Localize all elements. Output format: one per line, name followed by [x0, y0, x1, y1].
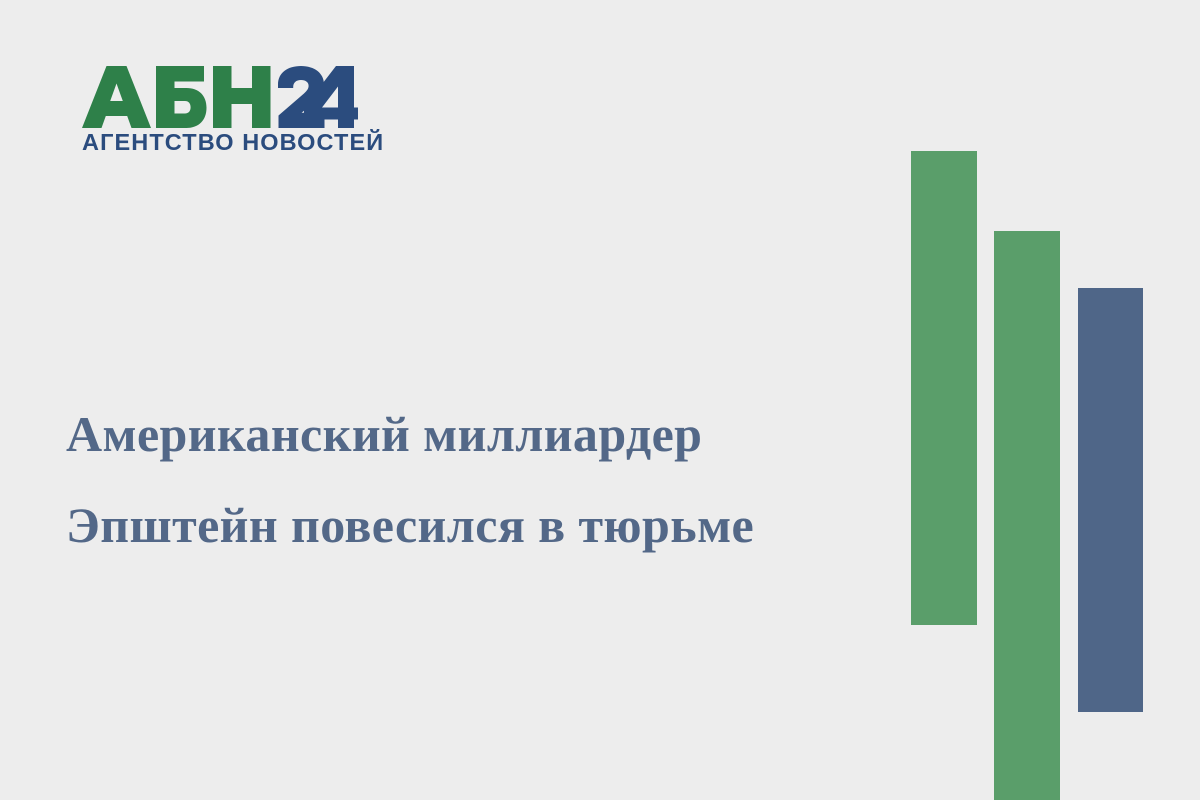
headline-line-1: Американский миллиардер	[66, 389, 866, 480]
news-card: АГЕНТСТВО НОВОСТЕЙ Американский миллиард…	[0, 0, 1200, 800]
decorative-bar-2	[994, 231, 1060, 800]
logo[interactable]: АГЕНТСТВО НОВОСТЕЙ	[82, 66, 372, 155]
logo-tagline: АГЕНТСТВО НОВОСТЕЙ	[82, 131, 372, 155]
page-title: Американский миллиардер Эпштейн повесилс…	[66, 389, 866, 571]
decorative-bar-3	[1078, 288, 1143, 712]
logo-wordmark-icon	[82, 66, 358, 128]
decorative-bar-1	[911, 151, 977, 625]
headline-line-2: Эпштейн повесился в тюрьме	[66, 480, 866, 571]
